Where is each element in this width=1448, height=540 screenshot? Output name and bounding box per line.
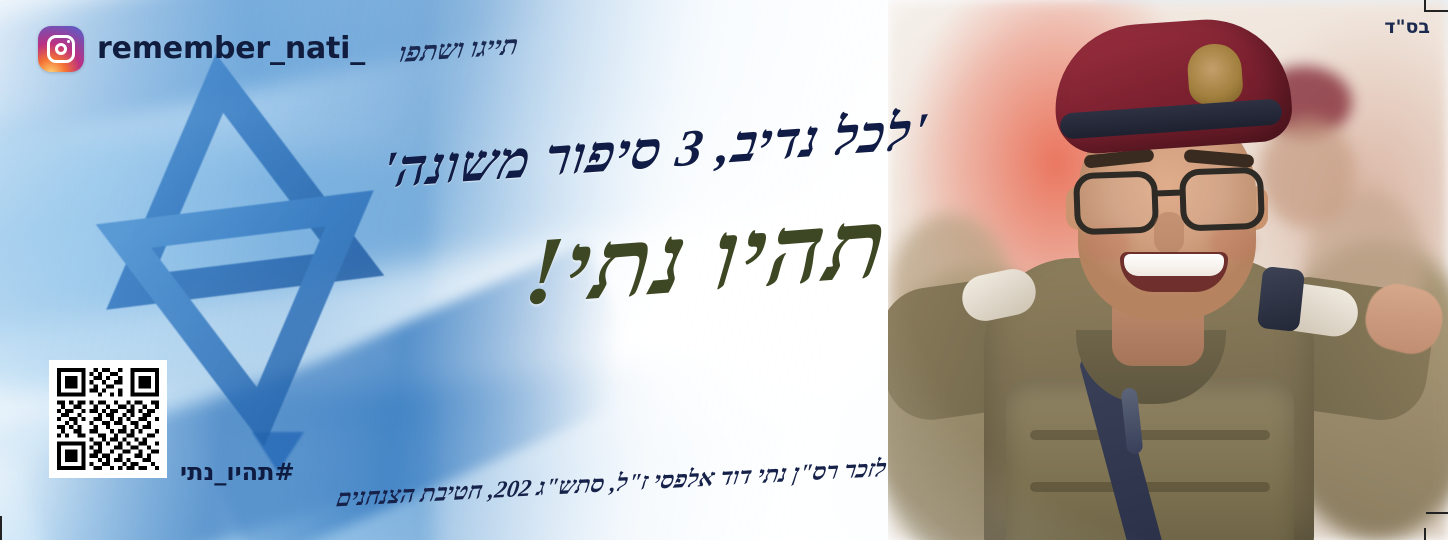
hashtag[interactable]: #תהיו_נתי [180,458,295,486]
crop-mark-bottom-left [0,516,2,540]
qr-code[interactable] [49,360,167,478]
soldier-teeth [1124,254,1224,276]
bsd-label: בס"ד [1384,16,1430,38]
instagram-handle-row[interactable]: remember_nati_ תייגו ושתפו [38,26,523,72]
share-call-to-action: תייגו ושתפו [397,29,521,68]
instagram-camera-glyph [47,35,75,63]
radio-antenna [1257,266,1305,332]
soldier-nose [1154,212,1184,254]
glasses-bridge [1156,190,1182,197]
instagram-icon[interactable] [38,26,84,72]
memorial-banner: בס"ד remember_nati_ תייגו ושתפו 'לכל נדי… [0,0,1448,540]
crop-mark-bottom-right-h [1426,512,1448,514]
soldier-photo [888,0,1448,540]
crop-mark-bottom-right [1424,528,1426,540]
instagram-handle[interactable]: remember_nati_ [97,34,365,64]
crop-mark-top-right-h [1426,10,1448,12]
lens-right [1179,167,1265,232]
soldier-smile [1120,252,1228,292]
lens-left [1073,170,1159,235]
